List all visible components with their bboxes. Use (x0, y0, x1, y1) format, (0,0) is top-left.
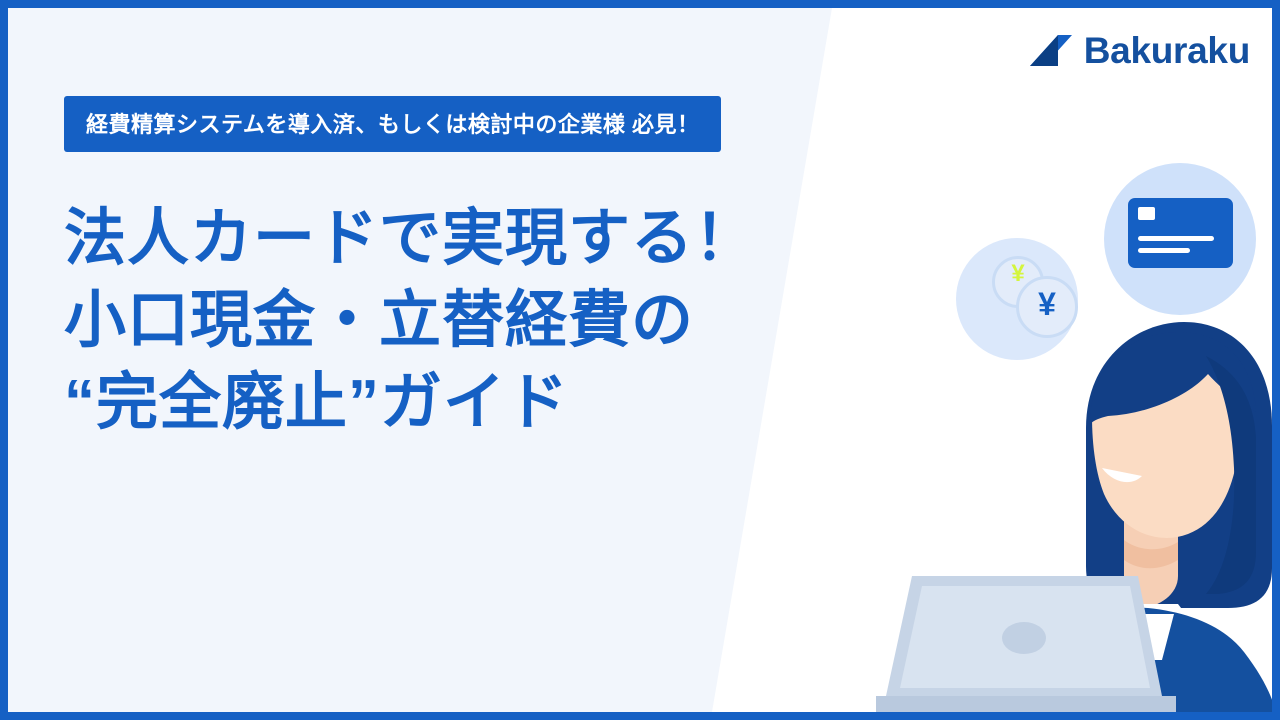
page-title: 法人カードで実現する！ 小口現金・立替経費の “完全廃止”ガイド (64, 198, 757, 443)
credit-card-stripe-icon (1138, 236, 1214, 241)
brand-logo-text: Bakuraku (1084, 32, 1250, 69)
bakuraku-triangle-mark-icon (1028, 33, 1074, 69)
laptop-icon (876, 568, 1176, 712)
brand-logo: Bakuraku (1028, 32, 1250, 69)
slide-root: Bakuraku 経費精算システムを導入済、もしくは検討中の企業様 必見！ 法人… (0, 0, 1280, 720)
credit-card-chip-icon (1138, 207, 1155, 220)
headline-line-2: 小口現金・立替経費の (64, 280, 757, 362)
headline-line-3: “完全廃止”ガイド (64, 362, 757, 444)
slide-canvas: Bakuraku 経費精算システムを導入済、もしくは検討中の企業様 必見！ 法人… (8, 8, 1272, 712)
headline-line-1: 法人カードで実現する！ (64, 198, 757, 280)
eyebrow-badge: 経費精算システムを導入済、もしくは検討中の企業様 必見！ (64, 96, 721, 152)
credit-card-stripe-secondary-icon (1138, 248, 1190, 253)
